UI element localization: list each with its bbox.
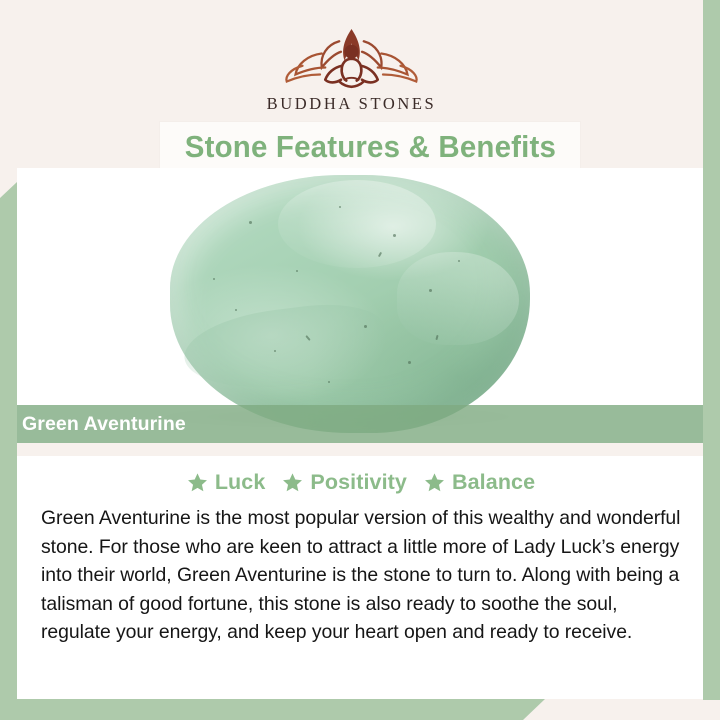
stone-speck <box>408 361 411 364</box>
benefit-label: Positivity <box>310 470 407 495</box>
stone-speck <box>213 278 215 280</box>
stone-speck <box>235 309 237 311</box>
stone-speck <box>296 270 298 272</box>
benefits-list: Luck Positivity Balance <box>33 470 689 495</box>
lotus-meditation-icon <box>264 22 439 92</box>
stone-name-band: Green Aventurine <box>0 405 703 443</box>
stone-description: Green Aventurine is the most popular ver… <box>33 504 689 647</box>
frame-left-accent <box>0 182 17 720</box>
stone-facet-top <box>278 180 436 268</box>
benefit-item-positivity: Positivity <box>282 470 407 495</box>
page-title: Stone Features & Benefits <box>184 129 555 165</box>
star-icon <box>282 472 303 493</box>
band-divider-strip <box>17 443 703 456</box>
stone-speck <box>249 221 252 224</box>
stone-body <box>170 175 530 433</box>
stone-name-label: Green Aventurine <box>22 413 186 436</box>
star-icon <box>187 472 208 493</box>
benefit-item-balance: Balance <box>424 470 535 495</box>
infographic-page: BUDDHA STONES Stone Features & Benefits <box>0 0 720 720</box>
stone-photo <box>17 168 703 443</box>
stone-facet-bottom <box>180 297 390 398</box>
frame-right-accent <box>703 0 720 700</box>
content-area: Luck Positivity Balance Green Aventurine… <box>17 456 703 699</box>
benefit-label: Luck <box>215 470 266 495</box>
stone-facet-right <box>397 252 519 345</box>
frame-bottom-accent <box>0 699 560 720</box>
star-icon <box>424 472 445 493</box>
brand-name: BUDDHA STONES <box>267 94 437 114</box>
benefit-item-luck: Luck <box>187 470 266 495</box>
stone-speck <box>429 289 432 292</box>
stone-image <box>170 175 530 433</box>
stone-speck <box>328 381 330 383</box>
benefit-label: Balance <box>452 470 535 495</box>
title-banner: Stone Features & Benefits <box>160 122 580 172</box>
